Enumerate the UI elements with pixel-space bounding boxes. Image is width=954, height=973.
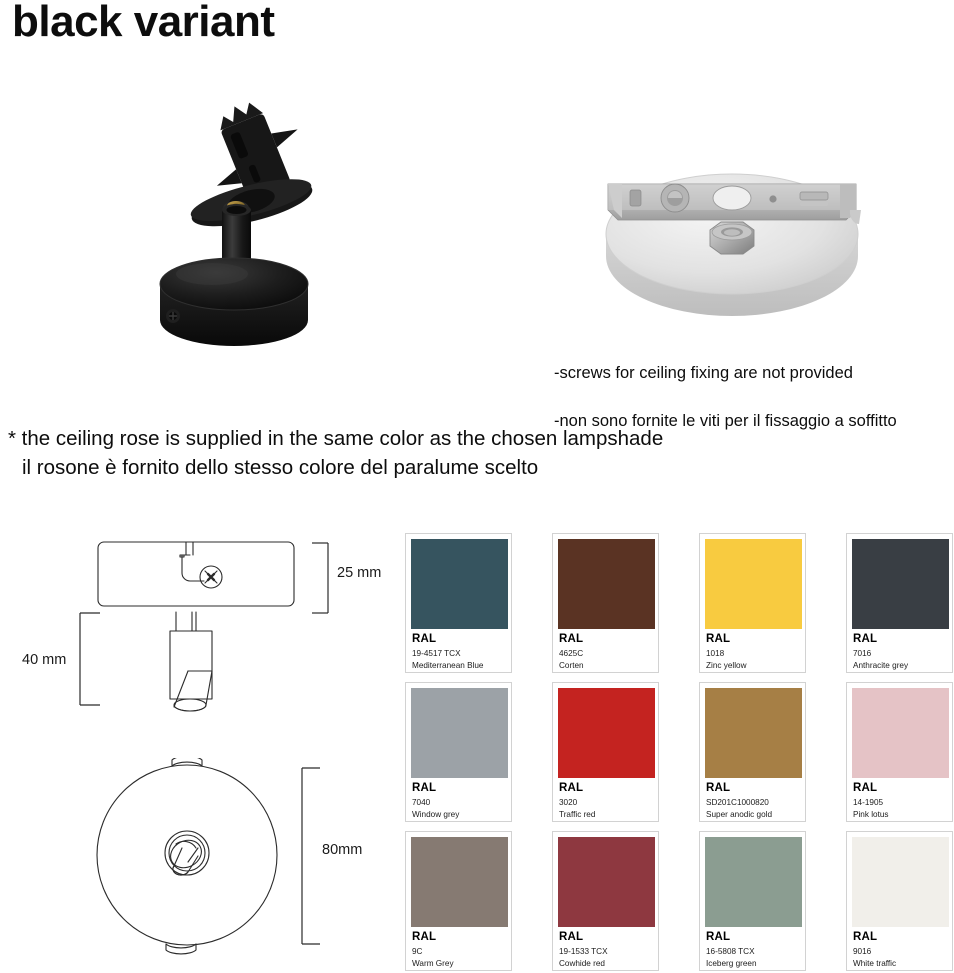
swatch-code: SD201C1000820	[706, 798, 799, 808]
swatch-code: 19-4517 TCX	[412, 649, 505, 659]
swatch-name: Iceberg green	[706, 959, 799, 969]
swatch-brand: RAL	[853, 633, 946, 647]
swatch-name: Corten	[559, 661, 652, 671]
swatch-brand: RAL	[706, 782, 799, 796]
swatch-color-block	[558, 837, 655, 927]
swatch-brand: RAL	[706, 931, 799, 945]
swatch-meta: RAL 7016 Anthracite grey	[852, 629, 947, 670]
swatch-meta: RAL 1018 Zinc yellow	[705, 629, 800, 670]
technical-drawing-top-view	[90, 758, 390, 968]
page-title: black variant	[12, 0, 275, 46]
swatch-card[interactable]: RAL 9016 White traffic	[846, 831, 953, 971]
swatch-code: 7016	[853, 649, 946, 659]
swatch-color-block	[411, 539, 508, 629]
product-photo-black-ceiling-rose	[140, 88, 370, 350]
swatch-name: Traffic red	[559, 810, 652, 820]
swatch-meta: RAL 19-1533 TCX Cowhide red	[558, 927, 653, 968]
swatch-color-block	[411, 688, 508, 778]
swatch-meta: RAL 14-1905 Pink lotus	[852, 778, 947, 819]
swatch-card[interactable]: RAL SD201C1000820 Super anodic gold	[699, 682, 806, 822]
technical-drawing-side-view	[0, 525, 400, 745]
swatch-code: 19-1533 TCX	[559, 947, 652, 957]
swatch-meta: RAL 7040 Window grey	[411, 778, 506, 819]
swatch-name: White traffic	[853, 959, 946, 969]
ceiling-note-it: il rosone è fornito dello stesso colore …	[8, 453, 663, 482]
swatch-code: 9C	[412, 947, 505, 957]
swatch-brand: RAL	[412, 931, 505, 945]
swatch-color-block	[705, 539, 802, 629]
swatch-meta: RAL 9016 White traffic	[852, 927, 947, 968]
swatch-code: 14-1905	[853, 798, 946, 808]
swatch-name: Super anodic gold	[706, 810, 799, 820]
swatch-name: Mediterranean Blue	[412, 661, 505, 671]
swatch-name: Pink lotus	[853, 810, 946, 820]
swatch-meta: RAL 9C Warm Grey	[411, 927, 506, 968]
swatch-color-block	[705, 837, 802, 927]
swatch-color-block	[852, 688, 949, 778]
ceiling-rose-color-note: * the ceiling rose is supplied in the sa…	[8, 424, 663, 482]
swatch-meta: RAL 4625C Corten	[558, 629, 653, 670]
swatch-color-block	[852, 837, 949, 927]
swatch-code: 3020	[559, 798, 652, 808]
swatch-color-block	[705, 688, 802, 778]
swatch-meta: RAL 16-5808 TCX Iceberg green	[705, 927, 800, 968]
swatch-brand: RAL	[853, 782, 946, 796]
swatch-name: Cowhide red	[559, 959, 652, 969]
swatch-card[interactable]: RAL 16-5808 TCX Iceberg green	[699, 831, 806, 971]
swatch-name: Zinc yellow	[706, 661, 799, 671]
swatch-card[interactable]: RAL 1018 Zinc yellow	[699, 533, 806, 673]
swatch-code: 9016	[853, 947, 946, 957]
swatch-card[interactable]: RAL 7040 Window grey	[405, 682, 512, 822]
swatch-brand: RAL	[412, 782, 505, 796]
swatch-code: 16-5808 TCX	[706, 947, 799, 957]
screws-note-en: -screws for ceiling fixing are not provi…	[554, 362, 897, 386]
swatch-brand: RAL	[559, 633, 652, 647]
swatch-name: Anthracite grey	[853, 661, 946, 671]
swatch-brand: RAL	[559, 931, 652, 945]
swatch-name: Window grey	[412, 810, 505, 820]
swatch-brand: RAL	[412, 633, 505, 647]
swatch-meta: RAL SD201C1000820 Super anodic gold	[705, 778, 800, 819]
swatch-card[interactable]: RAL 14-1905 Pink lotus	[846, 682, 953, 822]
swatch-brand: RAL	[853, 931, 946, 945]
swatch-code: 1018	[706, 649, 799, 659]
swatch-meta: RAL 19-4517 TCX Mediterranean Blue	[411, 629, 506, 670]
swatch-name: Warm Grey	[412, 959, 505, 969]
swatch-color-block	[852, 539, 949, 629]
swatch-code: 7040	[412, 798, 505, 808]
color-swatch-grid: RAL 19-4517 TCX Mediterranean Blue RAL 4…	[405, 533, 954, 971]
dimension-label-height-25mm: 25 mm	[337, 565, 381, 581]
swatch-color-block	[558, 539, 655, 629]
swatch-card[interactable]: RAL 4625C Corten	[552, 533, 659, 673]
product-photo-white-ceiling-rose	[592, 148, 872, 333]
dimension-label-height-40mm: 40 mm	[22, 652, 66, 668]
swatch-card[interactable]: RAL 19-4517 TCX Mediterranean Blue	[405, 533, 512, 673]
swatch-card[interactable]: RAL 7016 Anthracite grey	[846, 533, 953, 673]
swatch-code: 4625C	[559, 649, 652, 659]
ceiling-note-en: * the ceiling rose is supplied in the sa…	[8, 424, 663, 453]
swatch-meta: RAL 3020 Traffic red	[558, 778, 653, 819]
swatch-color-block	[411, 837, 508, 927]
swatch-card[interactable]: RAL 3020 Traffic red	[552, 682, 659, 822]
swatch-card[interactable]: RAL 9C Warm Grey	[405, 831, 512, 971]
swatch-brand: RAL	[706, 633, 799, 647]
swatch-brand: RAL	[559, 782, 652, 796]
swatch-card[interactable]: RAL 19-1533 TCX Cowhide red	[552, 831, 659, 971]
swatch-color-block	[558, 688, 655, 778]
